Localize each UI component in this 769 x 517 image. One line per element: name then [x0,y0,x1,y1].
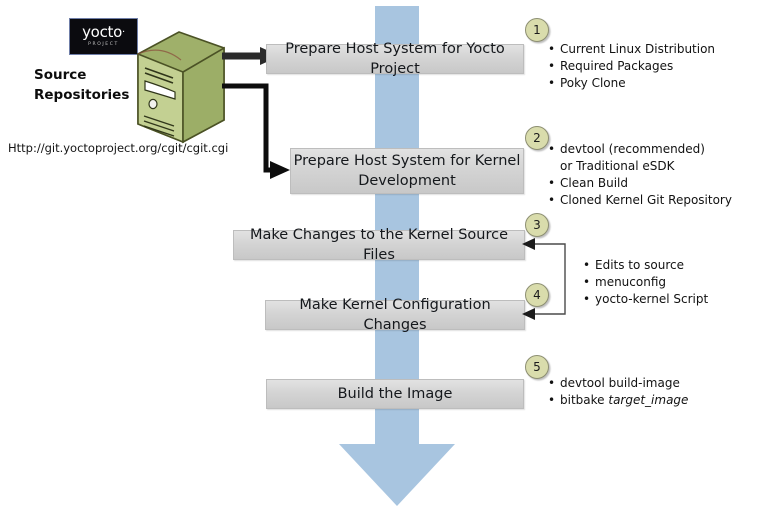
process-box-step-4[interactable]: Make Kernel Configuration Changes [265,300,525,330]
logo-dot: · [122,27,125,38]
process-box-step-1[interactable]: Prepare Host System for Yocto Project [266,44,524,74]
note-item-emphasis: target_image [608,393,688,407]
step-badge-2: 2 [525,126,549,150]
process-box-step-2-label-line1: Prepare Host System for Kernel [294,151,521,171]
logo-subtitle: PROJECT [88,41,119,48]
process-box-step-2-label-line2: Development [358,171,456,191]
flow-arrow-head-icon [339,444,455,506]
note-item: Current Linux Distribution [548,41,715,58]
note-item-prefix: bitbake [560,393,608,407]
process-box-step-3[interactable]: Make Changes to the Kernel Source Files [233,230,525,260]
logo-wordmark: yocto· [82,25,125,40]
process-box-step-5[interactable]: Build the Image [266,379,524,409]
note-item: bitbake target_image [548,392,688,409]
process-box-step-5-label: Build the Image [338,384,453,404]
notes-step-5: devtool build-image bitbake target_image [548,375,688,409]
note-item: menuconfig [583,274,708,291]
step-badge-5: 5 [525,355,549,379]
process-box-step-1-label: Prepare Host System for Yocto Project [267,39,523,79]
server-tower-icon [133,28,229,146]
note-item: devtool build-image [548,375,688,392]
notes-steps-3-4: Edits to source menuconfig yocto-kernel … [583,257,708,308]
notes-step-1: Current Linux Distribution Required Pack… [548,41,715,92]
step-badge-5-number: 5 [533,360,541,374]
logo-word-text: yocto [82,23,122,41]
step-badge-3: 3 [525,213,549,237]
notes-step-2: devtool (recommended) or Traditional eSD… [548,141,732,209]
diagram-canvas: yocto· PROJECT Source Repositories Http:… [0,0,769,517]
process-box-step-4-label: Make Kernel Configuration Changes [266,295,524,335]
note-item: devtool (recommended) or Traditional eSD… [548,141,720,175]
yocto-project-logo: yocto· PROJECT [69,18,138,55]
note-item: Edits to source [583,257,708,274]
step-badge-3-number: 3 [533,218,541,232]
note-item: Clean Build [548,175,732,192]
note-item: yocto-kernel Script [583,291,708,308]
step-badge-1: 1 [525,18,549,42]
connector-arrow-to-step2 [222,82,290,180]
feedback-bracket-steps-3-4 [521,238,583,320]
process-box-step-3-label: Make Changes to the Kernel Source Files [234,225,524,265]
step-badge-1-number: 1 [533,23,541,37]
note-item: Poky Clone [548,75,715,92]
note-item: Required Packages [548,58,715,75]
step-badge-2-number: 2 [533,131,541,145]
note-item: Cloned Kernel Git Repository [548,192,732,209]
process-box-step-2[interactable]: Prepare Host System for Kernel Developme… [290,148,524,194]
